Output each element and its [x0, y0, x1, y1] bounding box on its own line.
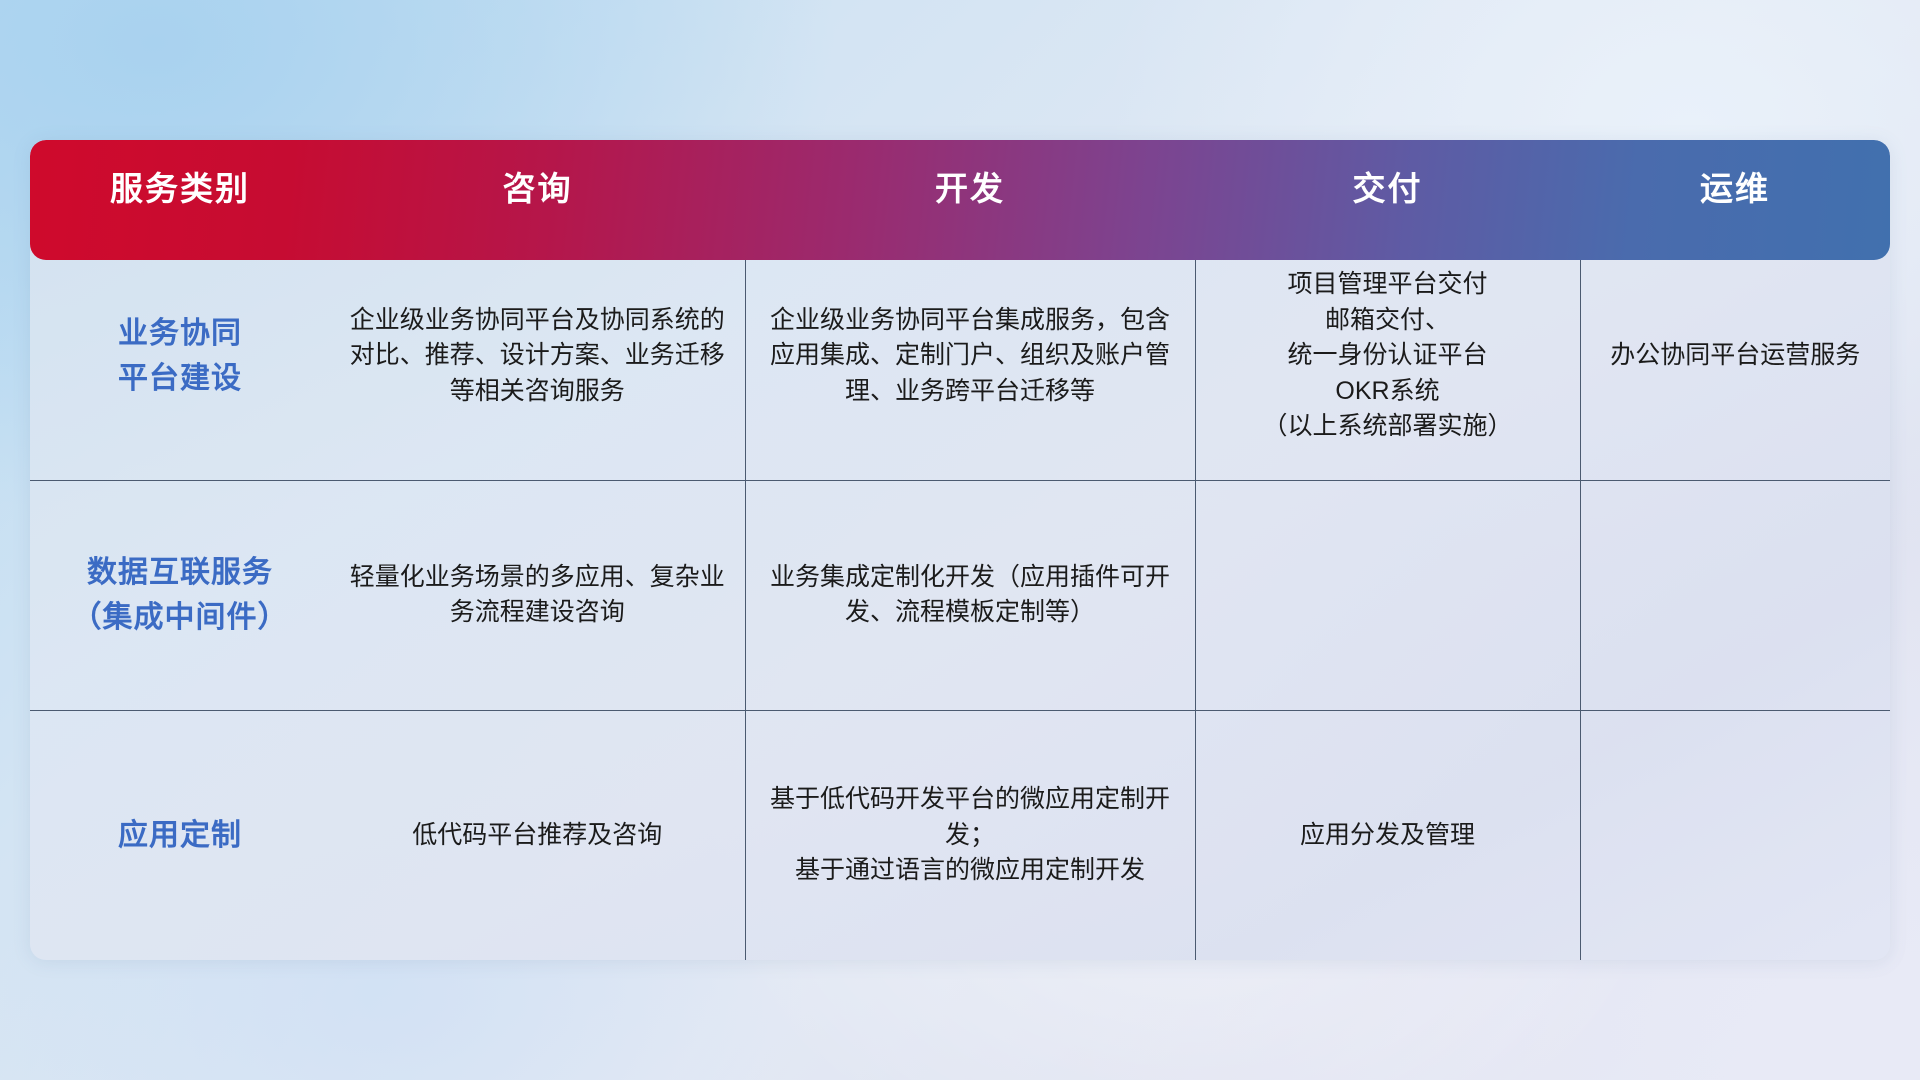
header-cell-category[interactable]: 服务类别 [30, 140, 330, 232]
cell-r1-operations: 办公协同平台运营服务 [1580, 232, 1890, 480]
cell-text: 应用分发及管理 [1212, 818, 1564, 854]
table-header: 服务类别 咨询 开发 交付 运维 [30, 140, 1890, 232]
cell-r2-delivery [1195, 480, 1580, 710]
header-cell-development[interactable]: 开发 [745, 140, 1195, 232]
header-cell-operations[interactable]: 运维 [1580, 140, 1890, 232]
table-body: 业务协同 平台建设 企业级业务协同平台及协同系统的对比、推荐、设计方案、业务迁移… [30, 232, 1890, 960]
row-label-line: （集成中间件） [46, 595, 314, 640]
cell-r2-operations [1580, 480, 1890, 710]
cell-r1-development: 企业级业务协同平台集成服务，包含应用集成、定制门户、组织及账户管理、业务跨平台迁… [745, 232, 1195, 480]
cell-r3-development: 基于低代码开发平台的微应用定制开发； 基于通过语言的微应用定制开发 [745, 710, 1195, 960]
cell-r3-consulting: 低代码平台推荐及咨询 [330, 710, 745, 960]
service-matrix-table: 服务类别 咨询 开发 交付 运维 业务协同 平台建设 企业级业务协同平台及协同系… [30, 140, 1890, 960]
cell-r2-consulting: 轻量化业务场景的多应用、复杂业务流程建设咨询 [330, 480, 745, 710]
cell-text: 基于低代码开发平台的微应用定制开发； 基于通过语言的微应用定制开发 [762, 782, 1179, 889]
row-label-business-collaboration: 业务协同 平台建设 [30, 232, 330, 480]
cell-text: 业务集成定制化开发（应用插件可开发、流程模板定制等） [762, 560, 1179, 631]
row-label-line: 平台建设 [46, 356, 314, 401]
row-label-line: 业务协同 [46, 311, 314, 356]
cell-text: 办公协同平台运营服务 [1597, 338, 1875, 374]
row-label-app-customization: 应用定制 [30, 710, 330, 960]
cell-r3-operations [1580, 710, 1890, 960]
cell-r1-delivery: 项目管理平台交付 邮箱交付、 统一身份认证平台 OKR系统 （以上系统部署实施） [1195, 232, 1580, 480]
cell-text: 低代码平台推荐及咨询 [346, 818, 729, 854]
cell-r3-delivery: 应用分发及管理 [1195, 710, 1580, 960]
cell-text: 企业级业务协同平台及协同系统的对比、推荐、设计方案、业务迁移等相关咨询服务 [346, 303, 729, 410]
header-row: 服务类别 咨询 开发 交付 运维 [30, 140, 1890, 232]
header-cell-consulting[interactable]: 咨询 [330, 140, 745, 232]
table-row: 应用定制 低代码平台推荐及咨询 基于低代码开发平台的微应用定制开发； 基于通过语… [30, 710, 1890, 960]
service-matrix-card: 服务类别 咨询 开发 交付 运维 业务协同 平台建设 企业级业务协同平台及协同系… [30, 140, 1890, 960]
cell-r1-consulting: 企业级业务协同平台及协同系统的对比、推荐、设计方案、业务迁移等相关咨询服务 [330, 232, 745, 480]
cell-text: 企业级业务协同平台集成服务，包含应用集成、定制门户、组织及账户管理、业务跨平台迁… [762, 303, 1179, 410]
cell-text: 轻量化业务场景的多应用、复杂业务流程建设咨询 [346, 560, 729, 631]
table-row: 数据互联服务 （集成中间件） 轻量化业务场景的多应用、复杂业务流程建设咨询 业务… [30, 480, 1890, 710]
header-cell-delivery[interactable]: 交付 [1195, 140, 1580, 232]
row-label-data-interconnect: 数据互联服务 （集成中间件） [30, 480, 330, 710]
cell-r2-development: 业务集成定制化开发（应用插件可开发、流程模板定制等） [745, 480, 1195, 710]
table-row: 业务协同 平台建设 企业级业务协同平台及协同系统的对比、推荐、设计方案、业务迁移… [30, 232, 1890, 480]
row-label-line: 应用定制 [46, 813, 314, 858]
row-label-line: 数据互联服务 [46, 550, 314, 595]
cell-text: 项目管理平台交付 邮箱交付、 统一身份认证平台 OKR系统 （以上系统部署实施） [1212, 267, 1564, 445]
